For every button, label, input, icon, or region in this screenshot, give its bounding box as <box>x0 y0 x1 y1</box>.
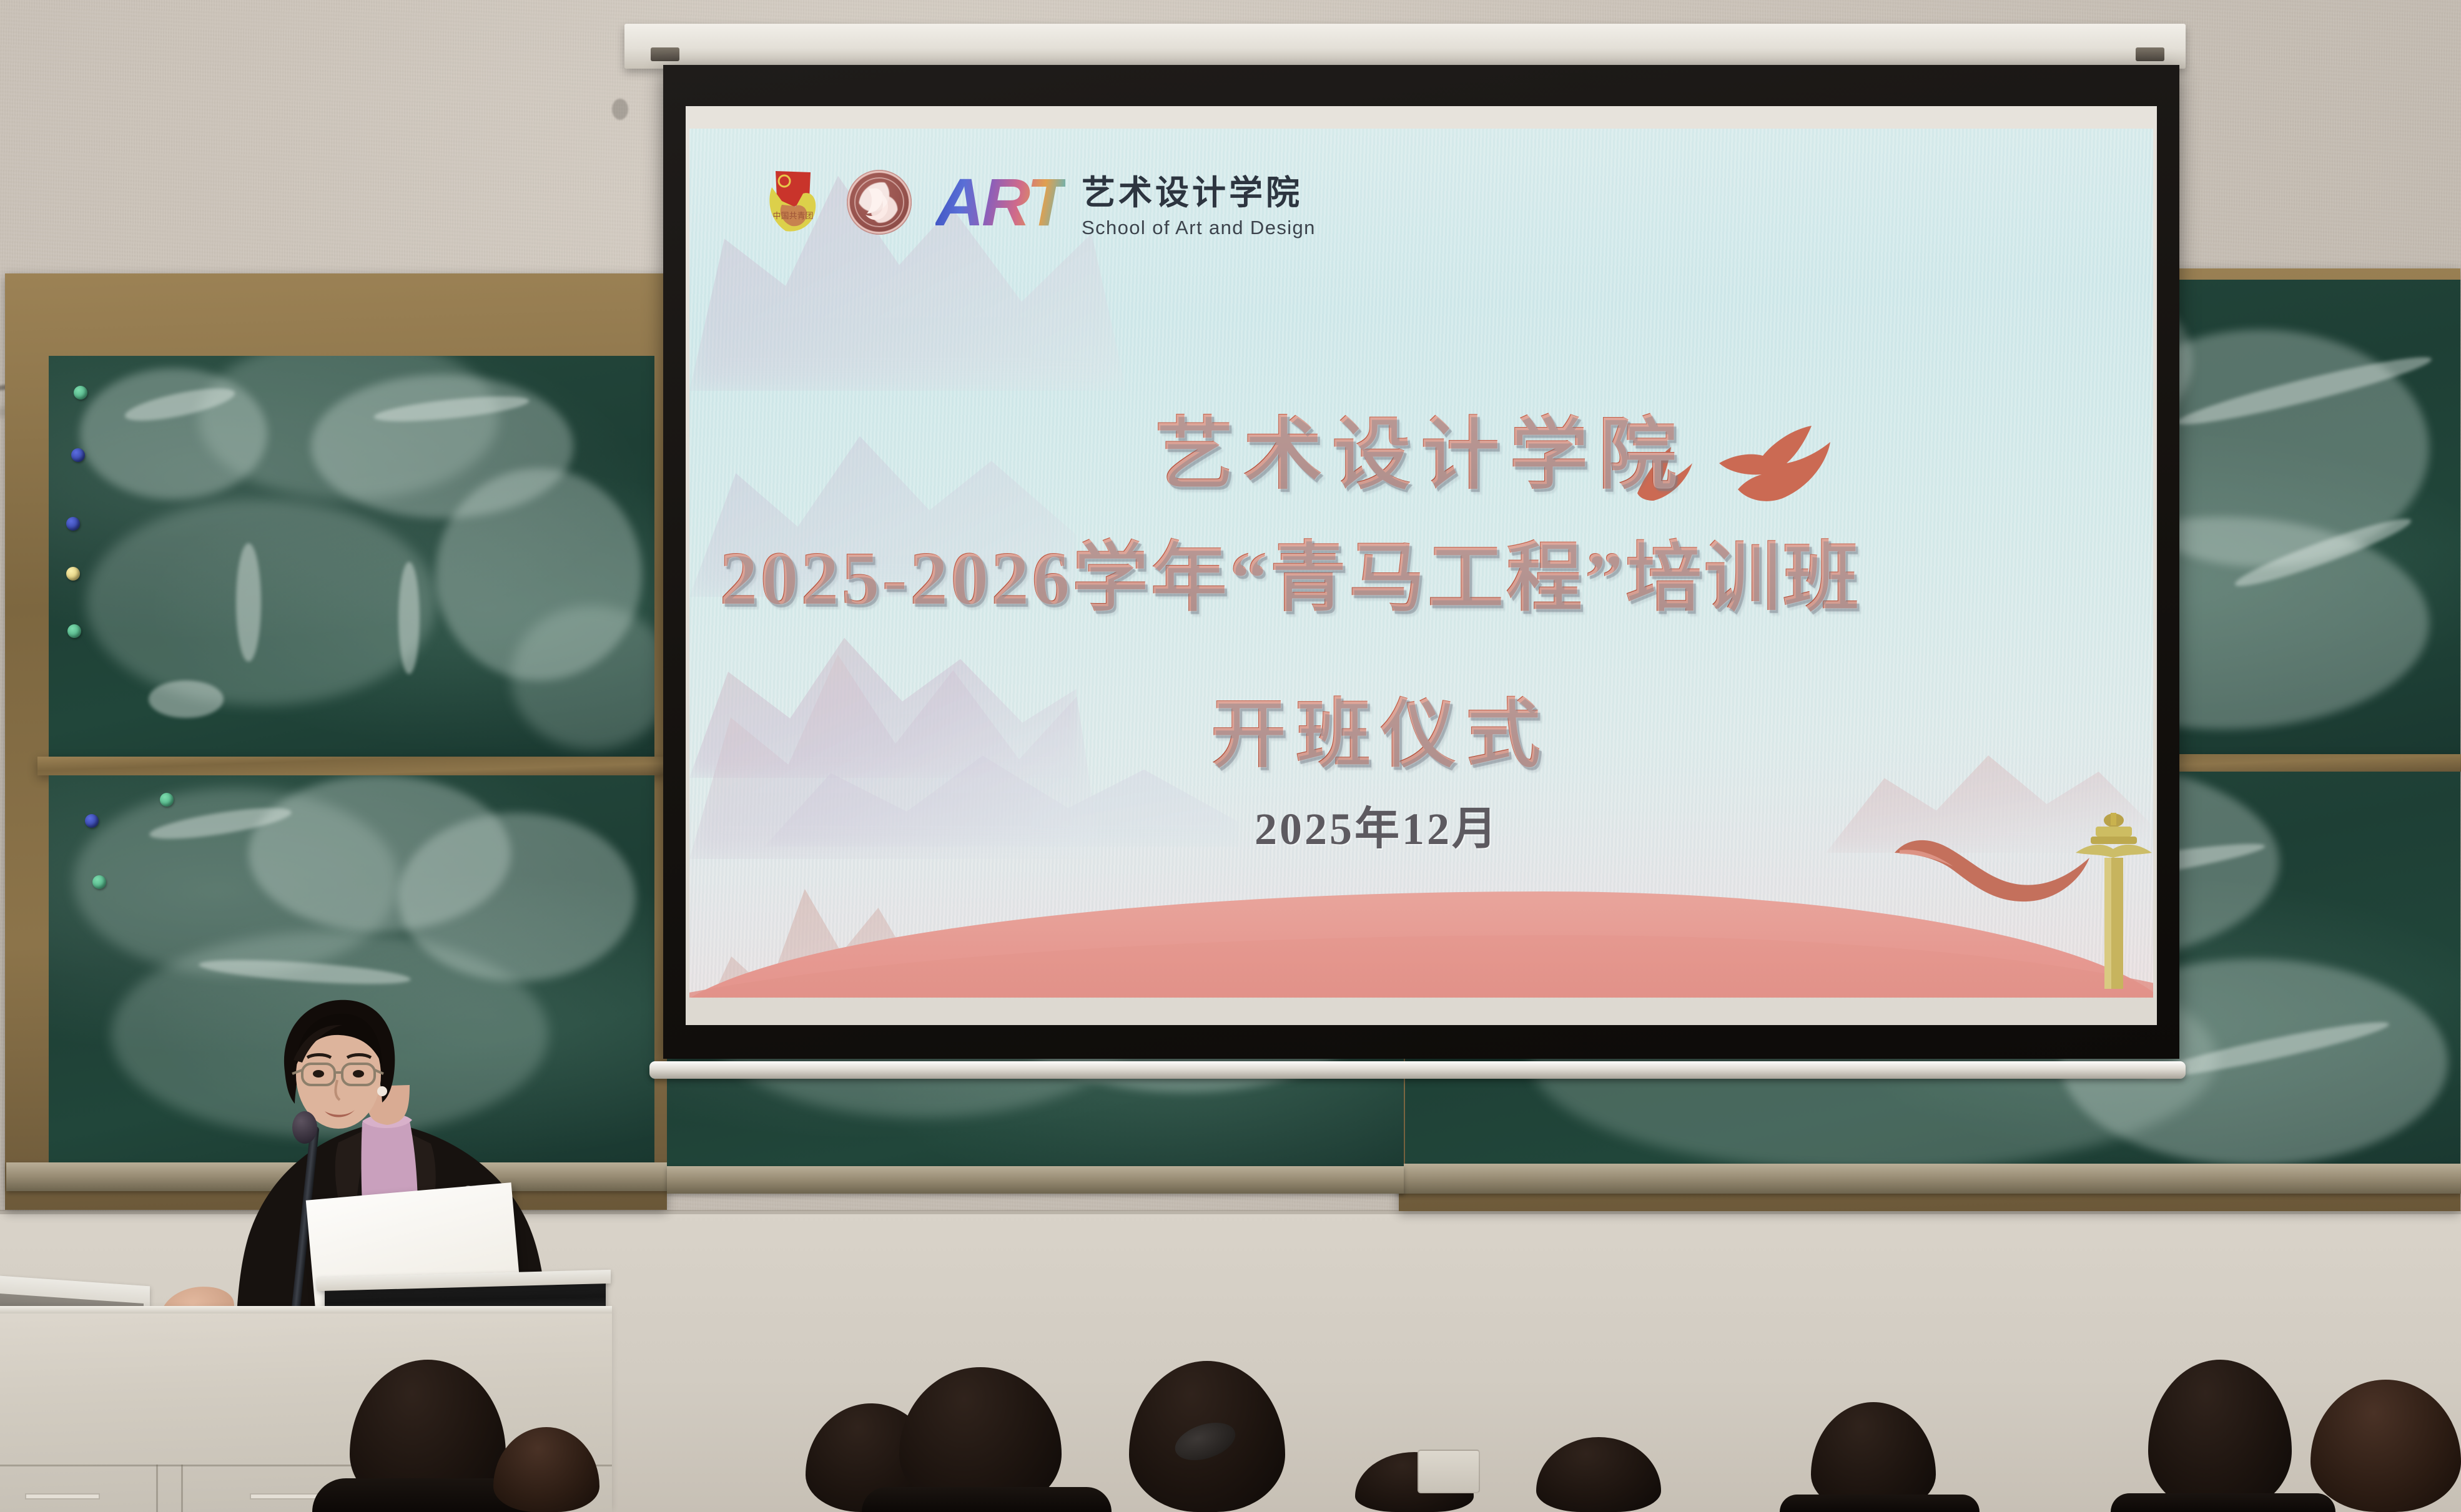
podium-drawer-handle-1[interactable] <box>25 1493 100 1500</box>
magnet-green-2 <box>67 624 81 638</box>
chalkboard-left-upper <box>49 356 654 762</box>
magnet-green-3 <box>160 793 174 807</box>
magnet-green-1 <box>74 386 87 400</box>
huabiao-column-icon <box>2073 804 2153 991</box>
university-seal-icon <box>847 170 912 235</box>
screen-housing-bracket-right <box>2136 47 2164 61</box>
audience-shoulders-4 <box>862 1487 1112 1512</box>
podium-panel-divider-vertical-1 <box>156 1465 158 1512</box>
youth-league-emblem-icon: 中国共青团 <box>763 169 823 236</box>
slide-title-line-1: 艺术设计学院 <box>1155 391 1687 504</box>
art-logo-text: ART <box>935 172 1065 232</box>
svg-text:中国共青团: 中国共青团 <box>772 211 813 220</box>
magnet-blue-1 <box>71 448 85 462</box>
podium-panel-divider-vertical-2 <box>181 1465 183 1512</box>
magnet-yellow-1 <box>66 567 80 581</box>
dove-icon-large <box>1717 422 1854 516</box>
projector-screen-weight-bar <box>649 1061 2186 1079</box>
projected-slide: 中国共青团 ART 艺术设计学院 School of Art and Desig… <box>689 129 2153 998</box>
screen-housing-bracket-left <box>651 47 679 61</box>
magnet-green-4 <box>92 875 106 889</box>
magnet-blue-3 <box>85 814 99 828</box>
classroom-photo-scene: 中国共青团 ART 艺术设计学院 School of Art and Desig… <box>0 0 2461 1512</box>
audience-shoulders-8 <box>1780 1495 1980 1512</box>
slide-date: 2025年12月 <box>1255 792 1499 857</box>
wall-scuff-1 <box>612 99 628 120</box>
magnet-blue-2 <box>66 517 80 531</box>
wall-power-outlet[interactable] <box>1418 1450 1480 1493</box>
projector-screen-housing <box>624 24 2186 69</box>
school-name-chinese: 艺术设计学院 <box>1082 165 1316 214</box>
slide-logo-row: 中国共青团 ART 艺术设计学院 School of Art and Desig… <box>763 165 1316 239</box>
podium-top-edge <box>0 1306 612 1313</box>
slide-title-line-3: 开班仪式 <box>1211 673 1551 782</box>
microphone-head <box>292 1111 317 1144</box>
chalk-ledge-right <box>1398 1164 2461 1194</box>
podium-drawer-handle-2[interactable] <box>250 1493 325 1500</box>
chalkboard-left-divider <box>37 757 667 775</box>
slide-title-line-2: 2025-2026学年“青马工程”培训班 <box>719 516 1862 626</box>
audience-shoulders-9 <box>2111 1493 2335 1512</box>
school-name-english: School of Art and Design <box>1082 217 1316 239</box>
speaker-head <box>270 993 407 1149</box>
chalk-ledge-center <box>667 1166 1404 1194</box>
